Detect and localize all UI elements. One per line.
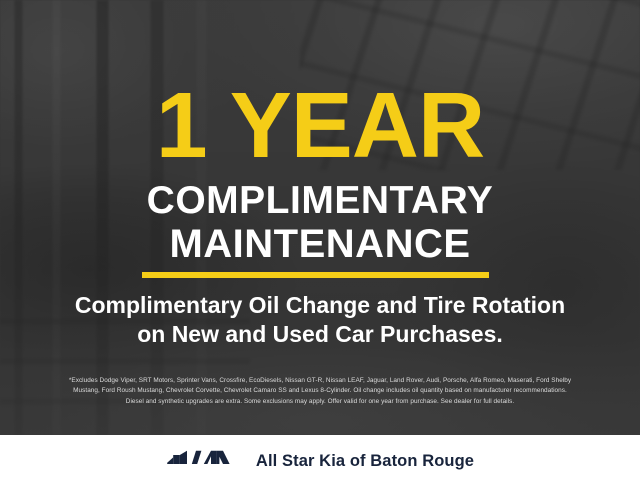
- banner-content: 1 YEAR COMPLIMENTARY MAINTENANCE Complim…: [0, 0, 640, 488]
- kia-logo-icon: [166, 449, 238, 475]
- offer-text-line-2: on New and Used Car Purchases.: [0, 321, 640, 347]
- yellow-divider-rule: [142, 272, 489, 278]
- disclaimer-fine-print: *Excludes Dodge Viper, SRT Motors, Sprin…: [14, 376, 626, 407]
- headline-complimentary: COMPLIMENTARY: [0, 181, 640, 220]
- dealer-name: All Star Kia of Baton Rouge: [256, 452, 474, 471]
- offer-text-line-1: Complimentary Oil Change and Tire Rotati…: [0, 292, 640, 318]
- disclaimer-line-2: Mustang, Ford Roush Mustang, Chevrolet C…: [14, 386, 626, 396]
- promo-banner: 1 YEAR COMPLIMENTARY MAINTENANCE Complim…: [0, 0, 640, 488]
- disclaimer-line-3: Diesel and synthetic upgrades are extra.…: [14, 397, 626, 407]
- footer-brand-group: All Star Kia of Baton Rouge: [166, 449, 474, 475]
- headline-maintenance: MAINTENANCE: [0, 224, 640, 264]
- footer-bar: All Star Kia of Baton Rouge: [0, 435, 640, 488]
- headline-year: 1 YEAR: [0, 79, 640, 172]
- disclaimer-line-1: *Excludes Dodge Viper, SRT Motors, Sprin…: [14, 376, 626, 386]
